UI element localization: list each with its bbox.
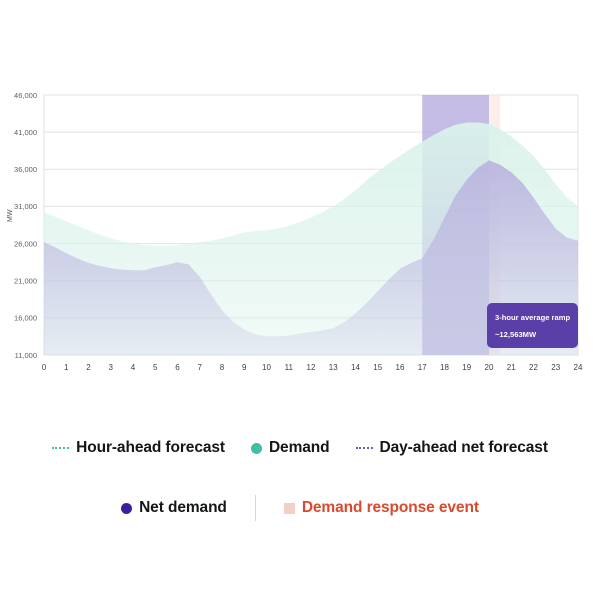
- x-axis-ticks: 0123456789101112131415161718192021222324: [42, 363, 583, 372]
- x-tick-label: 2: [86, 363, 91, 372]
- x-tick-label: 17: [418, 363, 427, 372]
- y-tick-label: 36,000: [14, 165, 37, 174]
- x-tick-label: 20: [485, 363, 494, 372]
- x-tick-label: 16: [396, 363, 405, 372]
- x-tick-label: 6: [175, 363, 180, 372]
- x-tick-label: 23: [551, 363, 560, 372]
- chart-page: 11,00016,00021,00026,00031,00036,00041,0…: [0, 0, 600, 600]
- x-tick-label: 19: [462, 363, 471, 372]
- x-tick-label: 0: [42, 363, 47, 372]
- demand-net-demand-chart: 11,00016,00021,00026,00031,00036,00041,0…: [0, 0, 600, 400]
- x-tick-label: 11: [285, 363, 294, 372]
- legend-label: Demand response event: [302, 499, 479, 517]
- ramp-annotation-box: [487, 303, 578, 348]
- dot-icon: [251, 443, 262, 454]
- legend-divider: [255, 495, 256, 521]
- x-tick-label: 18: [440, 363, 449, 372]
- x-tick-label: 10: [262, 363, 271, 372]
- y-tick-label: 21,000: [14, 277, 37, 286]
- dot-icon: [121, 503, 132, 514]
- y-tick-label: 26,000: [14, 239, 37, 248]
- legend-item-hour-ahead-forecast[interactable]: Hour-ahead forecast: [52, 439, 225, 457]
- legend-item-net-demand[interactable]: Net demand: [121, 499, 227, 517]
- legend-label: Day-ahead net forecast: [380, 439, 548, 457]
- x-tick-label: 22: [529, 363, 538, 372]
- y-axis-title: MW: [7, 209, 14, 222]
- dotted-line-icon: [356, 447, 373, 449]
- legend-item-day-ahead-net-forecast[interactable]: Day-ahead net forecast: [356, 439, 548, 457]
- legend-label: Net demand: [139, 499, 227, 517]
- y-tick-label: 46,000: [14, 91, 37, 100]
- x-tick-label: 14: [351, 363, 360, 372]
- x-tick-label: 5: [153, 363, 158, 372]
- y-tick-label: 11,000: [15, 351, 37, 360]
- ramp-annotation-line2: ~12,563MW: [495, 330, 537, 339]
- square-icon: [284, 503, 295, 514]
- x-tick-label: 15: [373, 363, 382, 372]
- x-tick-label: 8: [220, 363, 225, 372]
- x-tick-label: 9: [242, 363, 247, 372]
- x-tick-label: 4: [131, 363, 136, 372]
- legend-label: Hour-ahead forecast: [76, 439, 225, 457]
- legend-row-2: Net demand Demand response event: [0, 492, 600, 524]
- legend-row-1: Hour-ahead forecast Demand Day-ahead net…: [0, 432, 600, 464]
- x-tick-label: 12: [307, 363, 316, 372]
- x-tick-label: 13: [329, 363, 338, 372]
- dotted-line-icon: [52, 447, 69, 449]
- x-tick-label: 24: [574, 363, 583, 372]
- y-tick-label: 16,000: [14, 314, 37, 323]
- y-tick-label: 31,000: [14, 202, 37, 211]
- x-tick-label: 3: [109, 363, 114, 372]
- legend-item-demand[interactable]: Demand: [251, 439, 330, 457]
- chart-container: 11,00016,00021,00026,00031,00036,00041,0…: [0, 0, 600, 400]
- legend-item-demand-response-event[interactable]: Demand response event: [284, 499, 479, 517]
- ramp-annotation-line1: 3-hour average ramp: [495, 313, 570, 322]
- x-tick-label: 1: [64, 363, 69, 372]
- y-tick-label: 41,000: [14, 128, 37, 137]
- y-axis-ticks: 11,00016,00021,00026,00031,00036,00041,0…: [14, 91, 37, 360]
- x-tick-label: 21: [507, 363, 516, 372]
- legend-label: Demand: [269, 439, 330, 457]
- x-tick-label: 7: [198, 363, 203, 372]
- ramp-annotation: 3-hour average ramp ~12,563MW: [487, 303, 578, 348]
